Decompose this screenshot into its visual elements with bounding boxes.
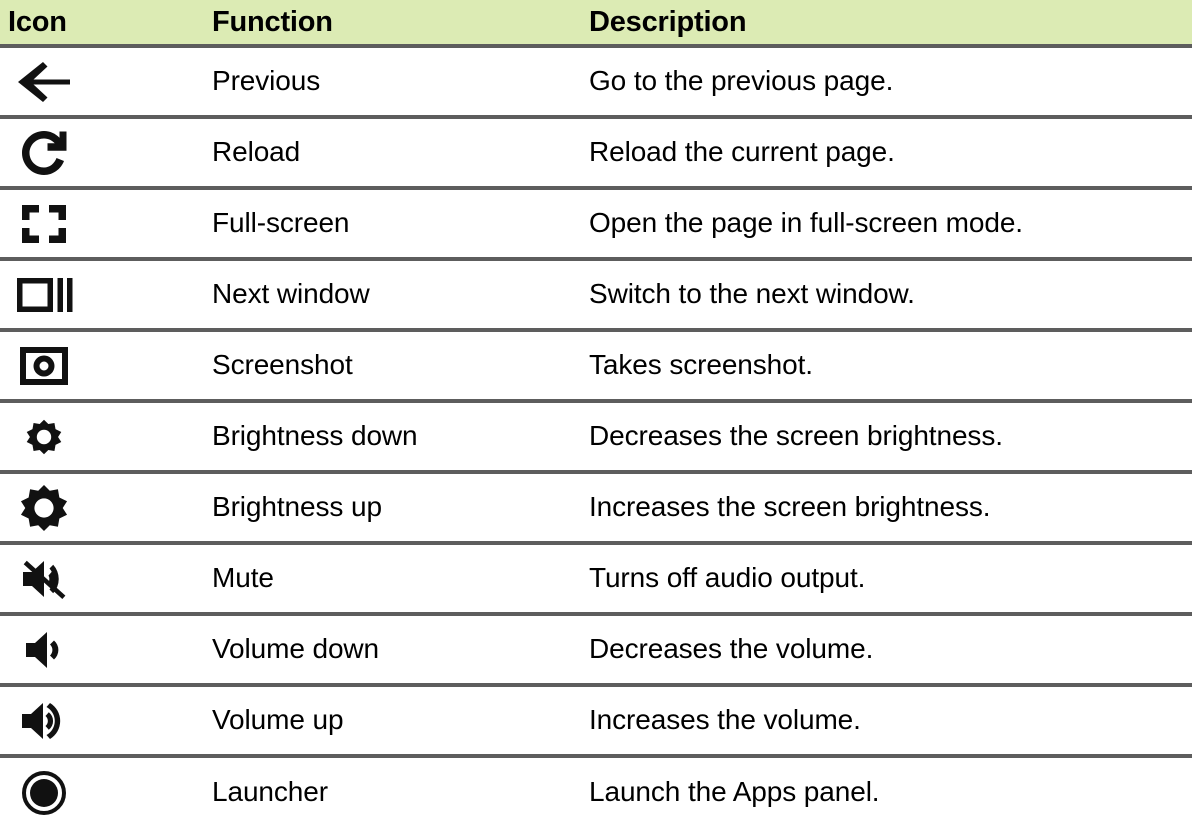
mute-icon <box>8 549 80 609</box>
cell-function: Brightness down <box>196 401 575 472</box>
column-header-function: Function <box>196 0 575 46</box>
cell-description: Takes screenshot. <box>575 330 1192 401</box>
table-row: Brightness down Decreases the screen bri… <box>0 401 1192 472</box>
cell-function: Previous <box>196 46 575 117</box>
reload-icon <box>8 123 80 183</box>
cell-description: Increases the volume. <box>575 685 1192 756</box>
cell-function: Full-screen <box>196 188 575 259</box>
cell-description: Turns off audio output. <box>575 543 1192 614</box>
launcher-icon <box>8 763 80 823</box>
table-row: Brightness up Increases the screen brigh… <box>0 472 1192 543</box>
cell-description: Switch to the next window. <box>575 259 1192 330</box>
cell-function: Reload <box>196 117 575 188</box>
cell-function: Screenshot <box>196 330 575 401</box>
table-row: Volume down Decreases the volume. <box>0 614 1192 685</box>
brightness-down-icon <box>8 407 80 467</box>
cell-function: Brightness up <box>196 472 575 543</box>
cell-icon <box>0 330 196 401</box>
cell-function: Volume down <box>196 614 575 685</box>
cell-icon <box>0 685 196 756</box>
back-arrow-icon <box>8 52 80 112</box>
cell-description: Increases the screen brightness. <box>575 472 1192 543</box>
table-row: Next window Switch to the next window. <box>0 259 1192 330</box>
cell-description: Go to the previous page. <box>575 46 1192 117</box>
table-row: Screenshot Takes screenshot. <box>0 330 1192 401</box>
next-window-icon <box>8 265 80 325</box>
cell-function: Volume up <box>196 685 575 756</box>
table-header-row: Icon Function Description <box>0 0 1192 46</box>
volume-down-icon <box>8 620 80 680</box>
column-header-icon: Icon <box>0 0 196 46</box>
volume-up-icon <box>8 691 80 751</box>
cell-icon <box>0 401 196 472</box>
table-header: Icon Function Description <box>0 0 1192 46</box>
cell-icon <box>0 188 196 259</box>
column-header-description: Description <box>575 0 1192 46</box>
cell-icon <box>0 614 196 685</box>
cell-description: Launch the Apps panel. <box>575 756 1192 827</box>
table-row: Launcher Launch the Apps panel. <box>0 756 1192 827</box>
table-row: Full-screen Open the page in full-screen… <box>0 188 1192 259</box>
cell-icon <box>0 472 196 543</box>
cell-description: Open the page in full-screen mode. <box>575 188 1192 259</box>
cell-icon <box>0 543 196 614</box>
function-key-shortcut-table: Icon Function Description Previous Go to… <box>0 0 1192 827</box>
cell-function: Mute <box>196 543 575 614</box>
cell-icon <box>0 46 196 117</box>
screenshot-icon <box>8 336 80 396</box>
cell-description: Reload the current page. <box>575 117 1192 188</box>
table-row: Mute Turns off audio output. <box>0 543 1192 614</box>
table-row: Reload Reload the current page. <box>0 117 1192 188</box>
table-row: Previous Go to the previous page. <box>0 46 1192 117</box>
brightness-up-icon <box>8 478 80 538</box>
cell-description: Decreases the screen brightness. <box>575 401 1192 472</box>
table-body: Previous Go to the previous page. Reload… <box>0 46 1192 827</box>
cell-icon <box>0 117 196 188</box>
cell-function: Launcher <box>196 756 575 827</box>
cell-icon <box>0 756 196 827</box>
full-screen-icon <box>8 194 80 254</box>
cell-function: Next window <box>196 259 575 330</box>
cell-description: Decreases the volume. <box>575 614 1192 685</box>
cell-icon <box>0 259 196 330</box>
table-row: Volume up Increases the volume. <box>0 685 1192 756</box>
